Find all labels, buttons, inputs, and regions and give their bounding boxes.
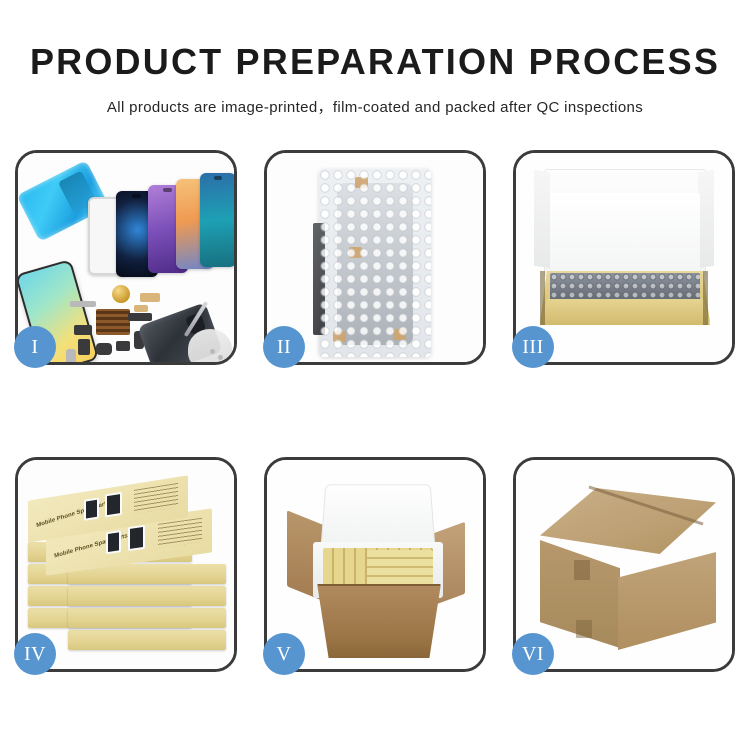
carton-body	[309, 586, 449, 658]
step-image-5	[267, 460, 483, 669]
phone-screen-teal	[200, 173, 234, 267]
part-screw-2	[218, 355, 223, 360]
part-chip-grid	[96, 309, 130, 335]
step-panel-3: III	[513, 150, 735, 365]
phone-screen-stack	[88, 177, 228, 281]
step-panel-6: VI	[513, 457, 735, 672]
scene-sealed-shipping-carton	[516, 460, 732, 669]
step-image-2	[267, 153, 483, 362]
page-title: PRODUCT PREPARATION PROCESS	[0, 44, 750, 80]
box-lid-right-flap	[698, 170, 714, 269]
part-connector-bar	[70, 301, 96, 307]
scene-bubble-wrapped-part	[267, 153, 483, 362]
box-spec-lines-1	[134, 483, 178, 514]
step-badge-3: III	[512, 326, 554, 368]
step-badge-6: VI	[512, 633, 554, 675]
part-bracket	[78, 339, 90, 355]
step-image-6	[516, 460, 732, 669]
box-lid-left-flap	[534, 170, 550, 269]
step-panel-1: I	[15, 150, 237, 365]
stacked-box-right-3	[68, 608, 226, 628]
box-screen-image-2a	[106, 530, 121, 554]
foam-sheet	[550, 193, 700, 271]
stacked-box-right-4	[68, 630, 226, 650]
carton-right-face	[618, 552, 716, 650]
scene-stacked-retail-boxes: Mobile Phone Spare Parts Mobile Phone Sp…	[18, 460, 234, 669]
part-gold-coil	[112, 285, 130, 303]
header: PRODUCT PREPARATION PROCESS All products…	[0, 0, 750, 117]
bubble-wrapped-contents	[550, 273, 700, 301]
scene-carton-with-foam-case	[267, 460, 483, 669]
step-panel-2: II	[264, 150, 486, 365]
box-stack: Mobile Phone Spare Parts Mobile Phone Sp…	[22, 480, 228, 660]
foam-case-lid	[320, 484, 435, 548]
part-camera-module	[116, 341, 130, 351]
step-badge-1: I	[14, 326, 56, 368]
box-spec-lines-2	[158, 518, 202, 548]
step-badge-5: V	[263, 633, 305, 675]
step-badge-2: II	[263, 326, 305, 368]
step-panel-4: Mobile Phone Spare Parts Mobile Phone Sp…	[15, 457, 237, 672]
scene-parts-and-screens	[18, 153, 234, 362]
box-screen-image-1a	[84, 497, 99, 520]
packed-yellow-boxes-stacked	[367, 550, 433, 588]
step-panel-5: V	[264, 457, 486, 672]
box-screen-image-2b	[128, 525, 145, 551]
step-image-3	[516, 153, 732, 362]
box-edge-left	[540, 271, 545, 325]
carton-tape-lower	[576, 620, 592, 638]
step-image-1	[18, 153, 234, 362]
part-sim-tray	[66, 349, 76, 362]
part-tan-flex	[140, 293, 160, 302]
part-black-block	[74, 325, 92, 335]
bubble-wrap-overlay	[319, 169, 431, 357]
box-tray-front	[540, 299, 710, 325]
hand	[188, 329, 232, 362]
product-preparation-infographic: PRODUCT PREPARATION PROCESS All products…	[0, 0, 750, 750]
step-image-4: Mobile Phone Spare Parts Mobile Phone Sp…	[18, 460, 234, 669]
stacked-box-right-2	[68, 586, 226, 606]
process-steps-grid: I II	[15, 150, 735, 690]
box-edge-right	[703, 271, 708, 325]
scene-open-flat-box	[516, 153, 732, 362]
step-badge-4: IV	[14, 633, 56, 675]
part-speaker	[96, 343, 112, 355]
part-ribbon-cable	[128, 313, 152, 321]
part-screw-1	[210, 349, 215, 354]
part-tan-small	[134, 305, 148, 312]
box-screen-image-1b	[105, 492, 122, 518]
carton-tape-upper	[574, 560, 590, 580]
page-subtitle: All products are image-printed，film-coat…	[0, 96, 750, 117]
